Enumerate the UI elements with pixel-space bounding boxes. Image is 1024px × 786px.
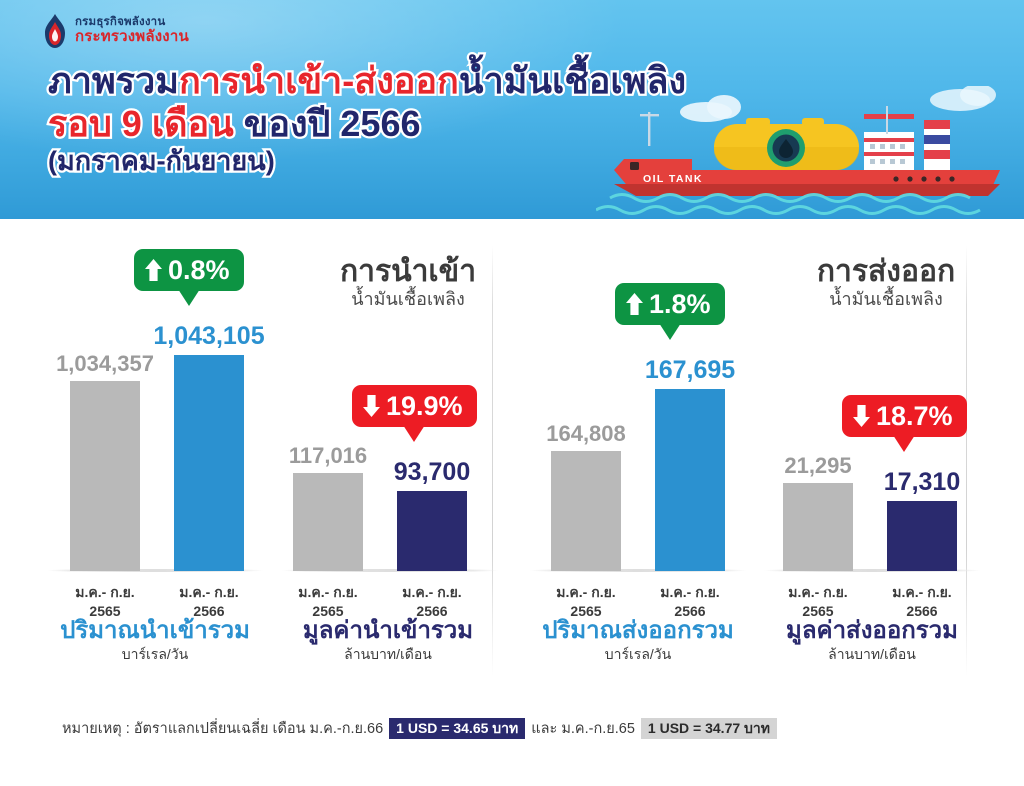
title-line-3: (มกราคม-กันยายน) [48, 147, 686, 176]
badge-pointer [403, 425, 425, 442]
title-line-2: รอบ 9 เดือน ของปี 2566 [48, 105, 686, 143]
x-label-2565: ม.ค.- ก.ย. 2565 [758, 583, 878, 621]
footnote-exchange-rate-2565: 1 USD = 34.77 บาท [641, 718, 777, 739]
arrow-up-icon [144, 258, 163, 282]
title-line-1: ภาพรวมการนำเข้า-ส่งออกน้ำมันเชื้อเพลิง [48, 62, 686, 100]
bar-value-2566: 1,043,105 [134, 322, 284, 351]
change-badge: 1.8% [615, 283, 725, 325]
badge-pointer [893, 435, 915, 452]
title-block: ภาพรวมการนำเข้า-ส่งออกน้ำมันเชื้อเพลิง ร… [48, 62, 686, 176]
x-label-2565-line1: ม.ค.- ก.ย. [45, 583, 165, 602]
x-label-2566-line1: ม.ค.- ก.ย. [372, 583, 492, 602]
logo-line-department: กรมธุรกิจพลังงาน [75, 16, 189, 28]
change-badge: 0.8% [134, 249, 244, 291]
charts-body: การนำเข้า น้ำมันเชื้อเพลิง การส่งออก น้ำ… [0, 219, 1024, 786]
bar-2566 [397, 491, 467, 571]
x-label-2565-line1: ม.ค.- ก.ย. [758, 583, 878, 602]
footnote-text-1: หมายเหตุ : อัตราแลกเปลี่ยนเฉลี่ย เดือน ม… [62, 717, 383, 740]
logo-line-ministry: กระทรวงพลังงาน [75, 29, 189, 45]
x-label-2565-line1: ม.ค.- ก.ย. [268, 583, 388, 602]
flame-icon [42, 14, 68, 50]
bar-2566 [887, 501, 957, 571]
x-label-2566-line1: ม.ค.- ก.ย. [630, 583, 750, 602]
header-banner: กรมธุรกิจพลังงาน กระทรวงพลังงาน ภาพรวมกา… [0, 0, 1024, 219]
arrow-down-icon [852, 404, 871, 428]
change-badge-value: 19.9% [386, 391, 463, 422]
arrow-down-icon [362, 394, 381, 418]
change-badge-value: 1.8% [649, 289, 711, 320]
bar-value-2565: 164,808 [511, 421, 661, 447]
bar-value-2566: 17,310 [847, 468, 997, 497]
change-badge: 19.9% [352, 385, 477, 427]
infographic-page: กรมธุรกิจพลังงาน กระทรวงพลังงาน ภาพรวมกา… [0, 0, 1024, 786]
x-label-2566: ม.ค.- ก.ย. 2566 [630, 583, 750, 621]
x-label-2565: ม.ค.- ก.ย. 2565 [526, 583, 646, 621]
footnote: หมายเหตุ : อัตราแลกเปลี่ยนเฉลี่ย เดือน ม… [62, 717, 783, 740]
title-line-1-part-3: น้ำมันเชื้อเพลิง [459, 60, 686, 101]
bar-2565 [293, 473, 363, 571]
badge-pointer [659, 323, 681, 340]
x-label-2566: ม.ค.- ก.ย. 2566 [149, 583, 269, 621]
title-line-1-part-2: การนำเข้า-ส่งออก [179, 60, 459, 101]
chart-label-unit: ล้านบาท/เดือน [268, 646, 508, 663]
bar-2565 [70, 381, 140, 571]
x-label-2566: ม.ค.- ก.ย. 2566 [862, 583, 982, 621]
x-label-2566-line1: ม.ค.- ก.ย. [149, 583, 269, 602]
chart-export-value: 21,295 17,310 18.7% ม.ค.- ก.ย. 2565 ม.ค.… [757, 219, 987, 639]
bar-2565 [783, 483, 853, 571]
chart-label-title: ปริมาณนำเข้ารวม [35, 617, 275, 645]
bar-value-2566: 93,700 [357, 458, 507, 487]
title-line-2-part-1: รอบ 9 เดือน [48, 103, 234, 144]
change-badge: 18.7% [842, 395, 967, 437]
chart-label-title: มูลค่าส่งออกรวม [752, 617, 992, 645]
x-label-2566-line1: ม.ค.- ก.ย. [862, 583, 982, 602]
x-label-2565: ม.ค.- ก.ย. 2565 [45, 583, 165, 621]
chart-label-title: มูลค่านำเข้ารวม [268, 617, 508, 645]
bar-2566 [655, 389, 725, 571]
change-badge-value: 0.8% [168, 255, 230, 286]
chart-import-volume: 1,034,357 1,043,105 0.8% ม.ค.- ก.ย. 2565… [40, 219, 270, 639]
change-badge-value: 18.7% [876, 401, 953, 432]
bar-2565 [551, 451, 621, 571]
chart-label-import-volume: ปริมาณนำเข้ารวม บาร์เรล/วัน [35, 617, 275, 662]
footnote-text-2: และ ม.ค.-ก.ย.65 [531, 717, 635, 740]
chart-export-volume: 164,808 167,695 1.8% ม.ค.- ก.ย. 2565 ม.ค… [523, 219, 753, 639]
ship-label: OIL TANK [643, 173, 703, 185]
footnote-exchange-rate-2566: 1 USD = 34.65 บาท [389, 718, 525, 739]
chart-import-value: 117,016 93,700 19.9% ม.ค.- ก.ย. 2565 ม.ค… [275, 219, 505, 639]
bar-value-2566: 167,695 [615, 356, 765, 385]
x-label-2566: ม.ค.- ก.ย. 2566 [372, 583, 492, 621]
chart-label-export-value: มูลค่าส่งออกรวม ล้านบาท/เดือน [752, 617, 992, 662]
arrow-up-icon [625, 292, 644, 316]
chart-label-unit: ล้านบาท/เดือน [752, 646, 992, 663]
x-label-2565-line1: ม.ค.- ก.ย. [526, 583, 646, 602]
chart-label-import-value: มูลค่านำเข้ารวม ล้านบาท/เดือน [268, 617, 508, 662]
x-label-2565: ม.ค.- ก.ย. 2565 [268, 583, 388, 621]
chart-label-unit: บาร์เรล/วัน [35, 646, 275, 663]
title-line-1-part-1: ภาพรวม [48, 60, 179, 101]
bar-value-2565: 1,034,357 [30, 351, 180, 377]
title-line-3-text: (มกราคม-กันยายน) [48, 146, 275, 176]
chart-label-unit: บาร์เรล/วัน [518, 646, 758, 663]
title-line-2-part-2: ของปี 2566 [234, 103, 421, 144]
ministry-logo: กรมธุรกิจพลังงาน กระทรวงพลังงาน [42, 14, 189, 50]
badge-pointer [178, 289, 200, 306]
bar-2566 [174, 355, 244, 571]
chart-label-export-volume: ปริมาณส่งออกรวม บาร์เรล/วัน [518, 617, 758, 662]
chart-label-title: ปริมาณส่งออกรวม [518, 617, 758, 645]
oil-tanker-ship-illustration: OIL TANK [596, 96, 1016, 219]
